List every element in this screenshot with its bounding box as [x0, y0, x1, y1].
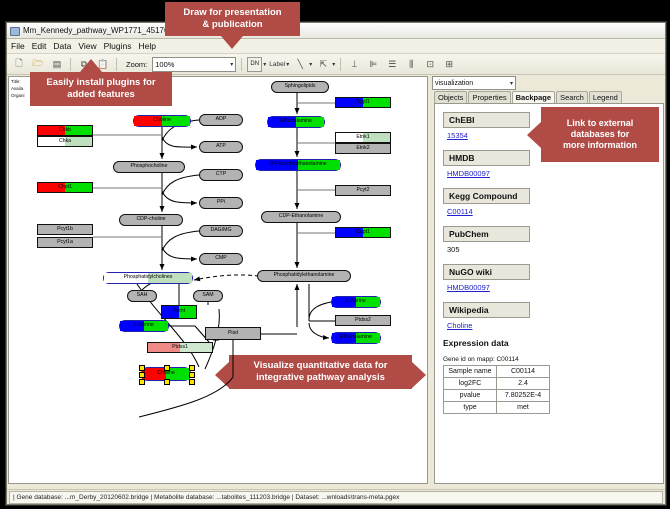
backpage-entry: Kegg Compound C00114	[443, 186, 663, 216]
gene-node[interactable]: Pisd	[205, 327, 261, 340]
menu-bar: File Edit Data View Plugins Help	[7, 39, 665, 54]
chevron-down-icon[interactable]: ▾	[286, 61, 289, 68]
node-label: Choline	[157, 371, 175, 376]
node-label: Sgpl1	[356, 100, 369, 105]
node-label: PPi	[217, 200, 225, 205]
db-name-nugo: NuGO wiki	[443, 264, 530, 280]
db-value-pubchem: 305	[447, 245, 663, 254]
gene-node[interactable]: Cept1	[335, 227, 391, 238]
node-label: O-Phosphoethanolamine	[269, 162, 326, 167]
callout-links-arrow	[527, 122, 541, 148]
expression-value: 7.80252E-4	[497, 390, 550, 402]
status-bar: | Gene database: ...m_Derby_20120602.bri…	[7, 489, 665, 504]
node-label: Etnk1	[356, 135, 369, 140]
callout-draw-arrow	[221, 36, 243, 49]
metabolite-node[interactable]: O-Phosphoethanolamine	[255, 159, 341, 171]
node-label: Chpt1	[58, 185, 72, 190]
node-label: Chka	[59, 139, 71, 144]
gene-node[interactable]: Chpt1	[37, 182, 93, 193]
chevron-down-icon: ▾	[230, 61, 233, 68]
align-top-icon[interactable]: ⟘	[346, 56, 362, 72]
visualization-bar: visualization ▾	[429, 76, 664, 90]
node-label: CTP	[216, 172, 226, 177]
zoom-combobox[interactable]: 100% ▾	[152, 57, 236, 72]
new-file-icon[interactable]: 🗋	[11, 56, 27, 72]
metabolite-node[interactable]: CDP-choline	[119, 214, 183, 226]
node-label: Ptdss1	[172, 345, 188, 350]
callout-links-text: Link to external databases for more info…	[563, 118, 637, 152]
node-label: L-Serine	[134, 323, 154, 328]
line-icon: ╲	[292, 56, 308, 72]
pathway-nodes: CholineSphingolipidsEthanolaminePhosphoc…	[9, 77, 427, 484]
expression-key: pvalue	[444, 390, 497, 402]
screenshot-root: Mm_Kennedy_pathway_WP1771_45176.gpml Fil…	[0, 0, 670, 509]
node-label: ATP	[216, 144, 226, 149]
expression-data-heading: Expression data	[443, 338, 663, 348]
metabolite-node[interactable]: L-Serine	[331, 296, 381, 308]
expression-key: type	[444, 402, 497, 414]
stack-vertical-icon[interactable]: ☰	[384, 56, 400, 72]
zoom-label: Zoom:	[126, 60, 147, 69]
chevron-down-icon[interactable]: ▾	[332, 61, 335, 68]
node-label: Sphingolipids	[285, 84, 316, 89]
node-label: SAH	[137, 293, 148, 298]
backpage-entry: PubChem 305	[443, 224, 663, 254]
node-label: CDP-Ethanolamine	[279, 214, 323, 219]
expression-value: C00114	[497, 366, 550, 378]
table-row: pvalue 7.80252E-4	[444, 390, 550, 402]
metabolite-node[interactable]: ATP	[199, 141, 243, 153]
metabolite-node[interactable]: CDP-Ethanolamine	[261, 211, 341, 223]
window-title: Mm_Kennedy_pathway_WP1771_45176.gpml	[23, 26, 188, 35]
expression-value: met	[497, 402, 550, 414]
callout-draw-text: Draw for presentation & publication	[183, 7, 281, 31]
toolbar-separator	[241, 58, 242, 71]
node-label: L-Serine	[346, 299, 366, 304]
gene-node[interactable]: Pcyt1a	[37, 237, 93, 248]
gene-node[interactable]: Pcyt1b	[37, 224, 93, 235]
status-bar-text: | Gene database: ...m_Derby_20120602.bri…	[9, 491, 663, 504]
gene-node[interactable]: Chkb	[37, 125, 93, 136]
gene-node[interactable]: Chka	[37, 136, 93, 147]
db-name-pubchem: PubChem	[443, 226, 530, 242]
metabolite-node[interactable]: Phosphatidylcholines	[103, 272, 193, 284]
node-label: Pemt	[173, 309, 185, 314]
node-label: DAG/MG	[210, 228, 231, 233]
gene-id-line: Gene id on mapp: C00114	[443, 356, 663, 363]
db-name-wikipedia: Wikipedia	[443, 302, 530, 318]
db-name-chebi: ChEBI	[443, 112, 530, 128]
callout-draw: Draw for presentation & publication	[165, 2, 300, 36]
chevron-down-icon[interactable]: ▾	[309, 61, 312, 68]
node-label: Pcyt1a	[57, 240, 73, 245]
expression-table: Sample name C00114 log2FC 2.4 pvalue 7.8…	[443, 365, 550, 414]
menu-item-file[interactable]: File	[11, 41, 25, 51]
metabolite-node[interactable]: Phosphatidylethanolamine	[257, 270, 351, 282]
menu-item-view[interactable]: View	[78, 41, 96, 51]
metabolite-node[interactable]: DAG/MG	[199, 225, 243, 237]
db-link-nugo[interactable]: HMDB00097	[447, 283, 663, 292]
node-label: Pcyt2	[357, 188, 370, 193]
pathvisio-window: Mm_Kennedy_pathway_WP1771_45176.gpml Fil…	[6, 22, 666, 505]
node-label: CMP	[215, 256, 227, 261]
side-panel-tabs: Objects Properties Backpage Search Legen…	[429, 90, 664, 103]
selection-handle[interactable]	[189, 365, 195, 371]
db-name-kegg: Kegg Compound	[443, 188, 530, 204]
visualization-combobox[interactable]: visualization ▾	[432, 76, 516, 90]
node-label: Etnk2	[356, 146, 369, 151]
chevron-down-icon: ▾	[510, 80, 513, 87]
gene-node[interactable]: Ptdss1	[147, 342, 213, 353]
metabolite-node[interactable]: Sphingolipids	[271, 81, 329, 93]
gene-node[interactable]: Pemt	[161, 305, 197, 319]
zoom-value: 100%	[155, 60, 174, 69]
interaction-tool[interactable]: ⇱ ▾	[315, 56, 335, 72]
selection-handle[interactable]	[189, 372, 195, 378]
tab-objects[interactable]: Objects	[434, 91, 467, 103]
node-label: Phosphatidylethanolamine	[274, 273, 335, 278]
metabolite-node[interactable]: SAM	[193, 290, 223, 302]
table-row: log2FC 2.4	[444, 378, 550, 390]
visualization-value: visualization	[435, 80, 473, 87]
node-label: Phosphatidylcholines	[124, 275, 173, 280]
selection-handle[interactable]	[189, 379, 195, 385]
db-name-hmdb: HMDB	[443, 150, 530, 166]
common-height-icon[interactable]: ⊞	[441, 56, 457, 72]
node-label: Cept1	[356, 230, 370, 235]
node-label: Ethanolamine	[280, 119, 312, 124]
save-file-icon[interactable]: ▤	[49, 56, 65, 72]
db-link-wikipedia[interactable]: Choline	[447, 321, 663, 330]
selection-handle[interactable]	[164, 379, 170, 385]
menu-item-data[interactable]: Data	[53, 41, 71, 51]
table-row: type met	[444, 402, 550, 414]
distribute-icon[interactable]: ⫼	[403, 56, 419, 72]
chevron-down-icon[interactable]: ▾	[263, 61, 266, 68]
label-tool-label: Label	[269, 61, 285, 68]
metabolite-node[interactable]: CTP	[199, 169, 243, 181]
gene-node[interactable]: Sgpl1	[335, 97, 391, 108]
backpage-entry: NuGO wiki HMDB00097	[443, 262, 663, 292]
menu-item-edit[interactable]: Edit	[32, 41, 47, 51]
line-tool[interactable]: ╲ ▾	[292, 56, 312, 72]
tab-backpage[interactable]: Backpage	[512, 91, 555, 103]
open-file-icon[interactable]: 🗁	[30, 56, 46, 72]
toolbar-separator	[340, 58, 341, 71]
gene-node[interactable]: Ptdss2	[335, 315, 391, 326]
toolbar-separator	[70, 58, 71, 71]
callout-plugins-arrow	[80, 59, 102, 72]
node-label: Pcyt1b	[57, 227, 73, 232]
node-label: CDP-choline	[136, 217, 165, 222]
node-label: Pisd	[228, 331, 238, 336]
menu-item-plugins[interactable]: Plugins	[104, 41, 132, 51]
selection-handle[interactable]	[139, 379, 145, 385]
metabolite-node[interactable]: Choline	[133, 115, 191, 127]
datanode-tool[interactable]: DN ▾	[247, 57, 266, 72]
db-link-hmdb[interactable]: HMDB00097	[447, 169, 663, 178]
metabolite-node[interactable]: CMP	[199, 253, 243, 265]
gene-node[interactable]: Pcyt2	[335, 185, 391, 196]
node-label: SAM	[202, 293, 213, 298]
label-tool[interactable]: Label ▾	[269, 61, 289, 68]
metabolite-node[interactable]: Ethanolamine	[267, 116, 325, 128]
selection-handle[interactable]	[139, 365, 145, 371]
metabolite-node[interactable]: SAH	[127, 290, 157, 302]
menu-item-help[interactable]: Help	[139, 41, 156, 51]
expression-key: log2FC	[444, 378, 497, 390]
tab-search[interactable]: Search	[556, 91, 588, 103]
node-label: Phosphocholine	[131, 164, 168, 169]
selection-handle[interactable]	[139, 372, 145, 378]
table-row: Sample name C00114	[444, 366, 550, 378]
expression-value: 2.4	[497, 378, 550, 390]
toolbar-separator	[116, 58, 117, 71]
metabolite-node[interactable]: ADP	[199, 114, 243, 126]
title-bar: Mm_Kennedy_pathway_WP1771_45176.gpml	[7, 23, 665, 39]
metabolite-node[interactable]: L-Serine	[119, 320, 169, 332]
node-label: Ptdss2	[355, 318, 371, 323]
metabolite-node[interactable]: PPi	[199, 197, 243, 209]
align-left-icon[interactable]: ⊫	[365, 56, 381, 72]
tab-legend[interactable]: Legend	[589, 91, 622, 103]
node-label: Ethanolamine	[340, 335, 372, 340]
backpage-entry: Wikipedia Choline	[443, 300, 663, 330]
interaction-icon: ⇱	[315, 56, 331, 72]
metabolite-node[interactable]: Phosphocholine	[113, 161, 185, 173]
callout-links: Link to external databases for more info…	[541, 107, 659, 162]
node-label: Choline	[153, 118, 171, 123]
metabolite-node[interactable]: Ethanolamine	[331, 332, 381, 344]
datanode-icon: DN	[247, 57, 262, 72]
common-width-icon[interactable]: ⊡	[422, 56, 438, 72]
node-label: ADP	[216, 117, 227, 122]
pathway-canvas[interactable]: Title: Availa Organi	[8, 76, 428, 484]
db-link-kegg[interactable]: C00114	[447, 207, 663, 216]
gene-node[interactable]: Etnk1	[335, 132, 391, 143]
gene-node[interactable]: Etnk2	[335, 143, 391, 154]
application-icon	[10, 26, 19, 35]
node-label: Chkb	[59, 128, 71, 133]
expression-key: Sample name	[444, 366, 497, 378]
tab-properties[interactable]: Properties	[468, 91, 510, 103]
